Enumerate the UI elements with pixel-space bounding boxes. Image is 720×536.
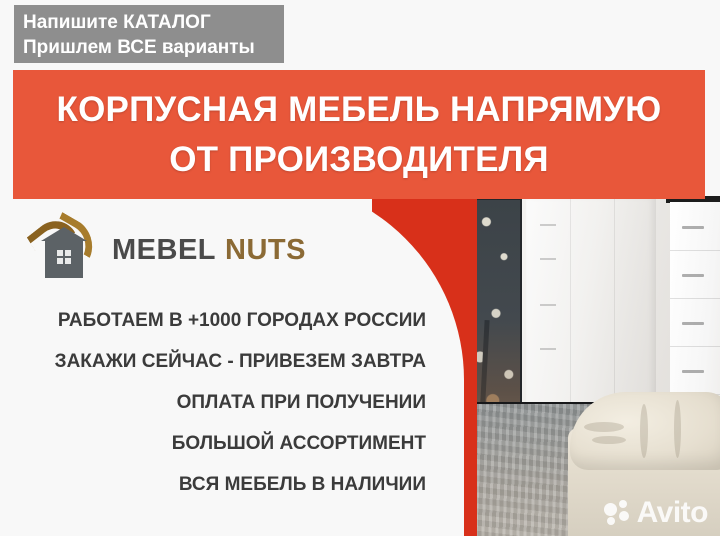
wardrobe-handle	[540, 348, 556, 350]
top-banner-line-1: Напишите КАТАЛОГ	[23, 10, 275, 35]
feature-item: РАБОТАЕМ В +1000 ГОРОДАХ РОССИИ	[0, 300, 434, 341]
brand-logo: MEBELNUTS	[28, 218, 306, 282]
drawer-handle	[682, 322, 704, 325]
top-callout-banner: Напишите КАТАЛОГ Пришлем ВСЕ варианты	[14, 5, 284, 63]
avito-watermark-text: Avito	[637, 498, 708, 528]
brand-name: MEBELNUTS	[112, 234, 306, 267]
feature-item: БОЛЬШОЙ АССОРТИМЕНТ	[0, 423, 434, 464]
top-banner-line-2: Пришлем ВСЕ варианты	[23, 35, 275, 60]
drawer-line	[670, 346, 720, 347]
drawer-handle	[682, 274, 704, 277]
drawer-line	[670, 298, 720, 299]
wardrobe-handle	[540, 224, 556, 226]
feature-item: ОПЛАТА ПРИ ПОЛУЧЕНИИ	[0, 382, 434, 423]
pillow-fold	[640, 404, 648, 458]
avito-dots-logo-icon	[604, 500, 630, 526]
advertisement-image: Avito Напишите КАТАЛОГ Пришлем ВСЕ вариа…	[0, 0, 720, 536]
pillow-fold	[584, 422, 624, 432]
feature-item: ВСЯ МЕБЕЛЬ В НАЛИЧИИ	[0, 464, 434, 505]
feature-list: РАБОТАЕМ В +1000 ГОРОДАХ РОССИИ ЗАКАЖИ С…	[0, 300, 434, 505]
wardrobe-handle	[540, 258, 556, 260]
pillow-fold	[592, 436, 626, 444]
drawer-line	[670, 250, 720, 251]
house-with-nut-roof-icon	[28, 218, 100, 282]
drawer-handle	[682, 226, 704, 229]
avito-watermark: Avito	[604, 498, 708, 528]
headline-banner: КОРПУСНАЯ МЕБЕЛЬ НАПРЯМУЮ ОТ ПРОИЗВОДИТЕ…	[13, 70, 705, 199]
brand-name-primary: MEBEL	[112, 234, 216, 266]
headline-line-2: ОТ ПРОИЗВОДИТЕЛЯ	[169, 135, 549, 185]
headline-line-1: КОРПУСНАЯ МЕБЕЛЬ НАПРЯМУЮ	[57, 85, 662, 135]
feature-item: ЗАКАЖИ СЕЙЧАС - ПРИВЕЗЕМ ЗАВТРА	[0, 341, 434, 382]
photo-pillow	[570, 392, 720, 470]
pillow-fold	[674, 400, 681, 458]
brand-name-secondary: NUTS	[225, 234, 306, 266]
drawer-handle	[682, 370, 704, 373]
wardrobe-handle	[540, 304, 556, 306]
